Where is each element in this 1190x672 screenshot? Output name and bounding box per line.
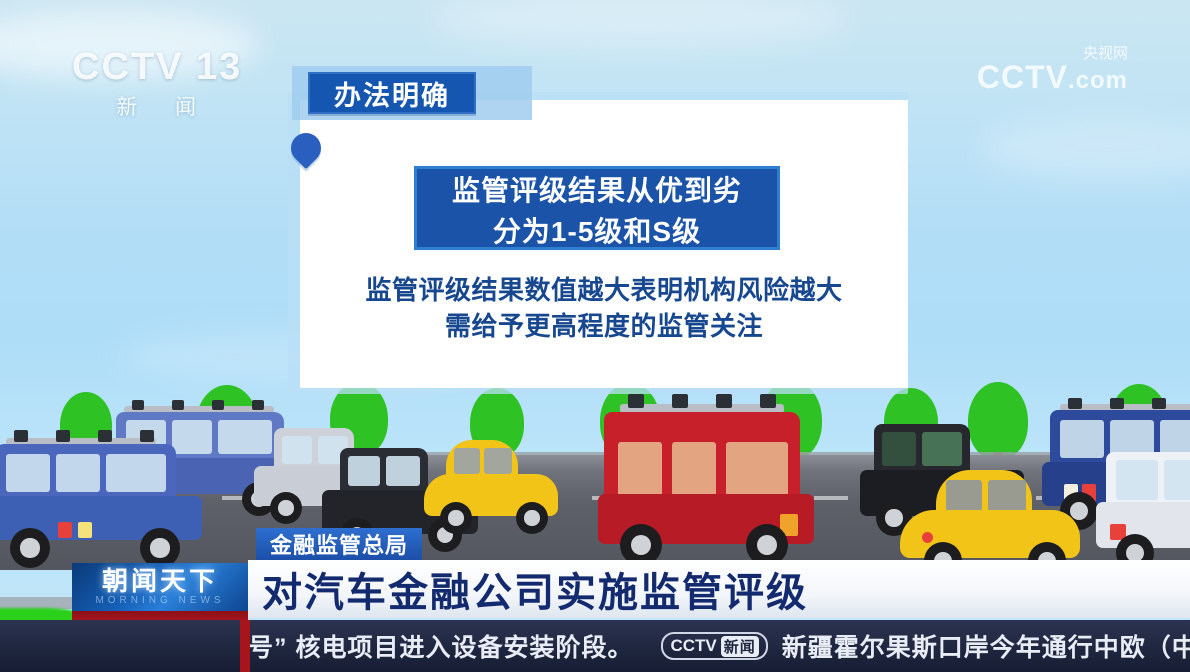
cloud (430, 0, 850, 50)
panel-body-text: 监管评级结果数值越大表明机构风险越大 需给予更高程度的监管关注 (310, 272, 898, 344)
highlight-line-2: 分为1-5级和S级 (417, 210, 777, 251)
cctv-com-watermark: 央视网 CCTV.com (977, 48, 1128, 93)
car-yellow-beetle (424, 440, 564, 536)
car-red-suv (594, 394, 824, 564)
program-name-en: MORNING NEWS (95, 595, 224, 606)
section-tag: 办法明确 (308, 72, 476, 114)
car-white-van-right (1096, 452, 1190, 572)
ticker-item-2: 新疆霍尔果斯口岸今年通行中欧（中亚）班 (782, 628, 1190, 664)
headline-text: 对汽车金融公司实施监管评级 (262, 563, 808, 615)
panel-body-line-2: 需给予更高程度的监管关注 (310, 308, 898, 344)
highlight-line-1: 监管评级结果从优到劣 (417, 169, 777, 210)
cctv-news-badge-cn: 新闻 (721, 636, 759, 657)
ticker-content: 号” 核电项目进入设备安装阶段。 CCTV 新闻 新疆霍尔果斯口岸今年通行中欧（… (248, 620, 1190, 672)
watermark-main: CCTV (977, 59, 1068, 95)
news-ticker: 号” 核电项目进入设备安装阶段。 CCTV 新闻 新疆霍尔果斯口岸今年通行中欧（… (0, 620, 1190, 672)
program-logo: 朝闻天下 MORNING NEWS (72, 563, 248, 611)
ticker-red-accent (240, 620, 250, 672)
broadcast-screen: CCTV 13 新 闻 央视网 CCTV.com 办法明确 监管评级结果从优到劣… (0, 0, 1190, 672)
channel-logo-sub: 新 闻 (72, 91, 242, 121)
cloud (980, 120, 1190, 180)
channel-logo-text: CCTV (72, 46, 183, 88)
highlight-box: 监管评级结果从优到劣 分为1-5级和S级 (414, 166, 780, 250)
car-blue-suv-left (0, 430, 220, 560)
source-tag: 金融监管总局 (256, 528, 422, 560)
cctv-news-badge-cc: CCTV (670, 636, 716, 656)
watermark-dot: .com (1068, 67, 1128, 94)
channel-logo: CCTV 13 新 闻 (72, 48, 242, 121)
channel-logo-number: 13 (196, 46, 242, 88)
panel-body-line-1: 监管评级结果数值越大表明机构风险越大 (310, 272, 898, 308)
cctv-news-badge: CCTV 新闻 (661, 632, 767, 660)
ticker-item-1: 号” 核电项目进入设备安装阶段。 (248, 628, 633, 664)
program-name: 朝闻天下 (102, 568, 218, 594)
